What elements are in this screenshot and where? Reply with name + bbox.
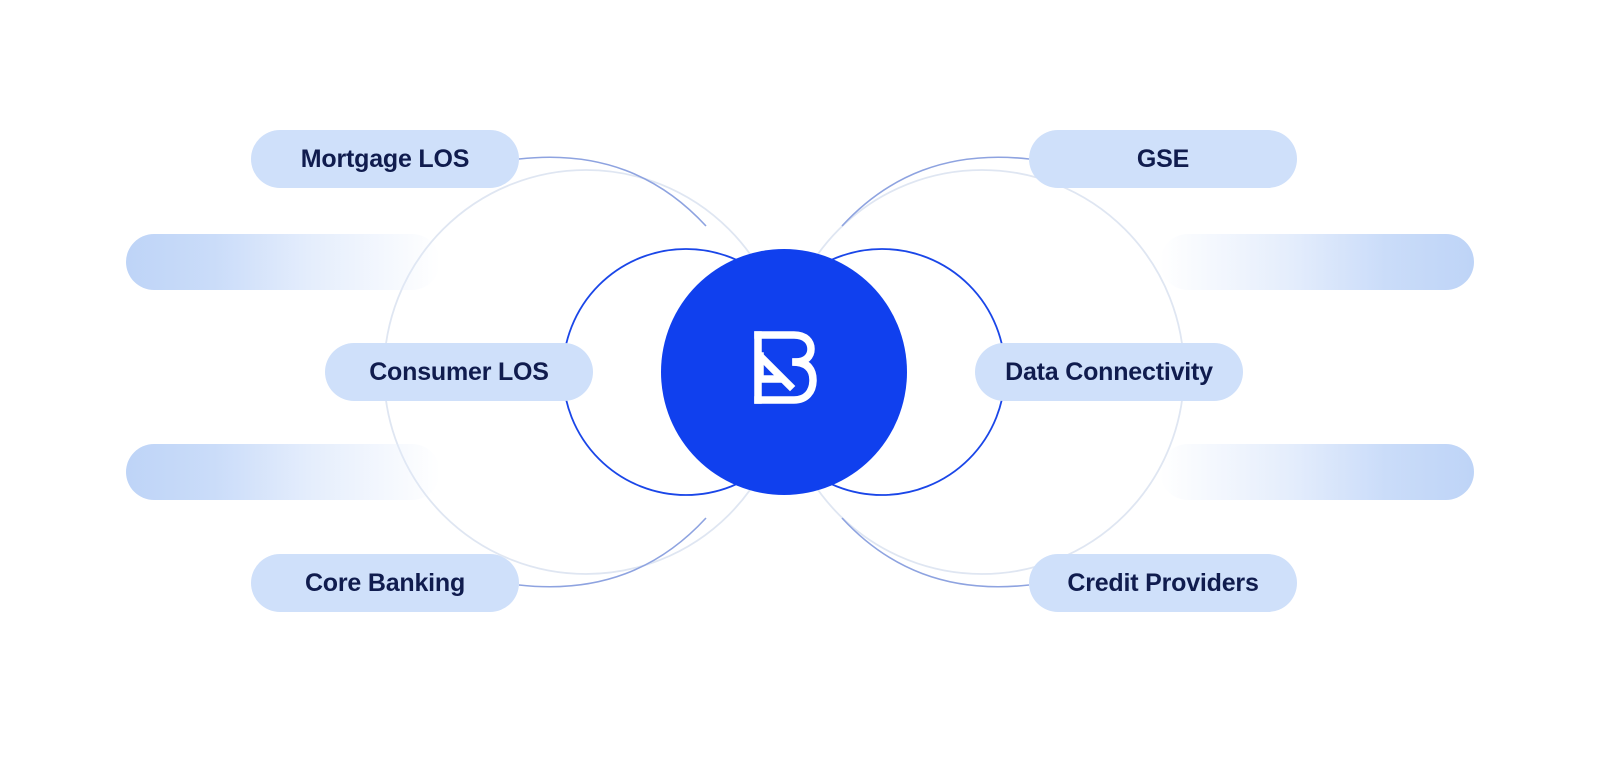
label-pill-gse[interactable]: GSE [1029, 130, 1297, 188]
label-pill-data-connectivity[interactable]: Data Connectivity [975, 343, 1243, 401]
connector-credit-providers [842, 518, 1029, 587]
connector-gse [842, 157, 1029, 226]
label-pill-credit-providers-text: Credit Providers [1067, 569, 1258, 598]
label-pill-data-connectivity-text: Data Connectivity [1005, 358, 1213, 387]
label-pill-core-banking[interactable]: Core Banking [251, 554, 519, 612]
label-pill-gse-text: GSE [1137, 145, 1189, 174]
label-pill-consumer-los-text: Consumer LOS [369, 358, 549, 387]
label-pill-credit-providers[interactable]: Credit Providers [1029, 554, 1297, 612]
center-hub[interactable] [661, 249, 907, 495]
label-pill-core-banking-text: Core Banking [305, 569, 465, 598]
diagram-canvas: Mortgage LOS GSE Consumer LOS Data Conne… [0, 0, 1600, 759]
blend-b-logo-icon [750, 330, 818, 414]
label-pill-mortgage-los-text: Mortgage LOS [301, 145, 469, 174]
label-pill-consumer-los[interactable]: Consumer LOS [325, 343, 593, 401]
label-pill-mortgage-los[interactable]: Mortgage LOS [251, 130, 519, 188]
